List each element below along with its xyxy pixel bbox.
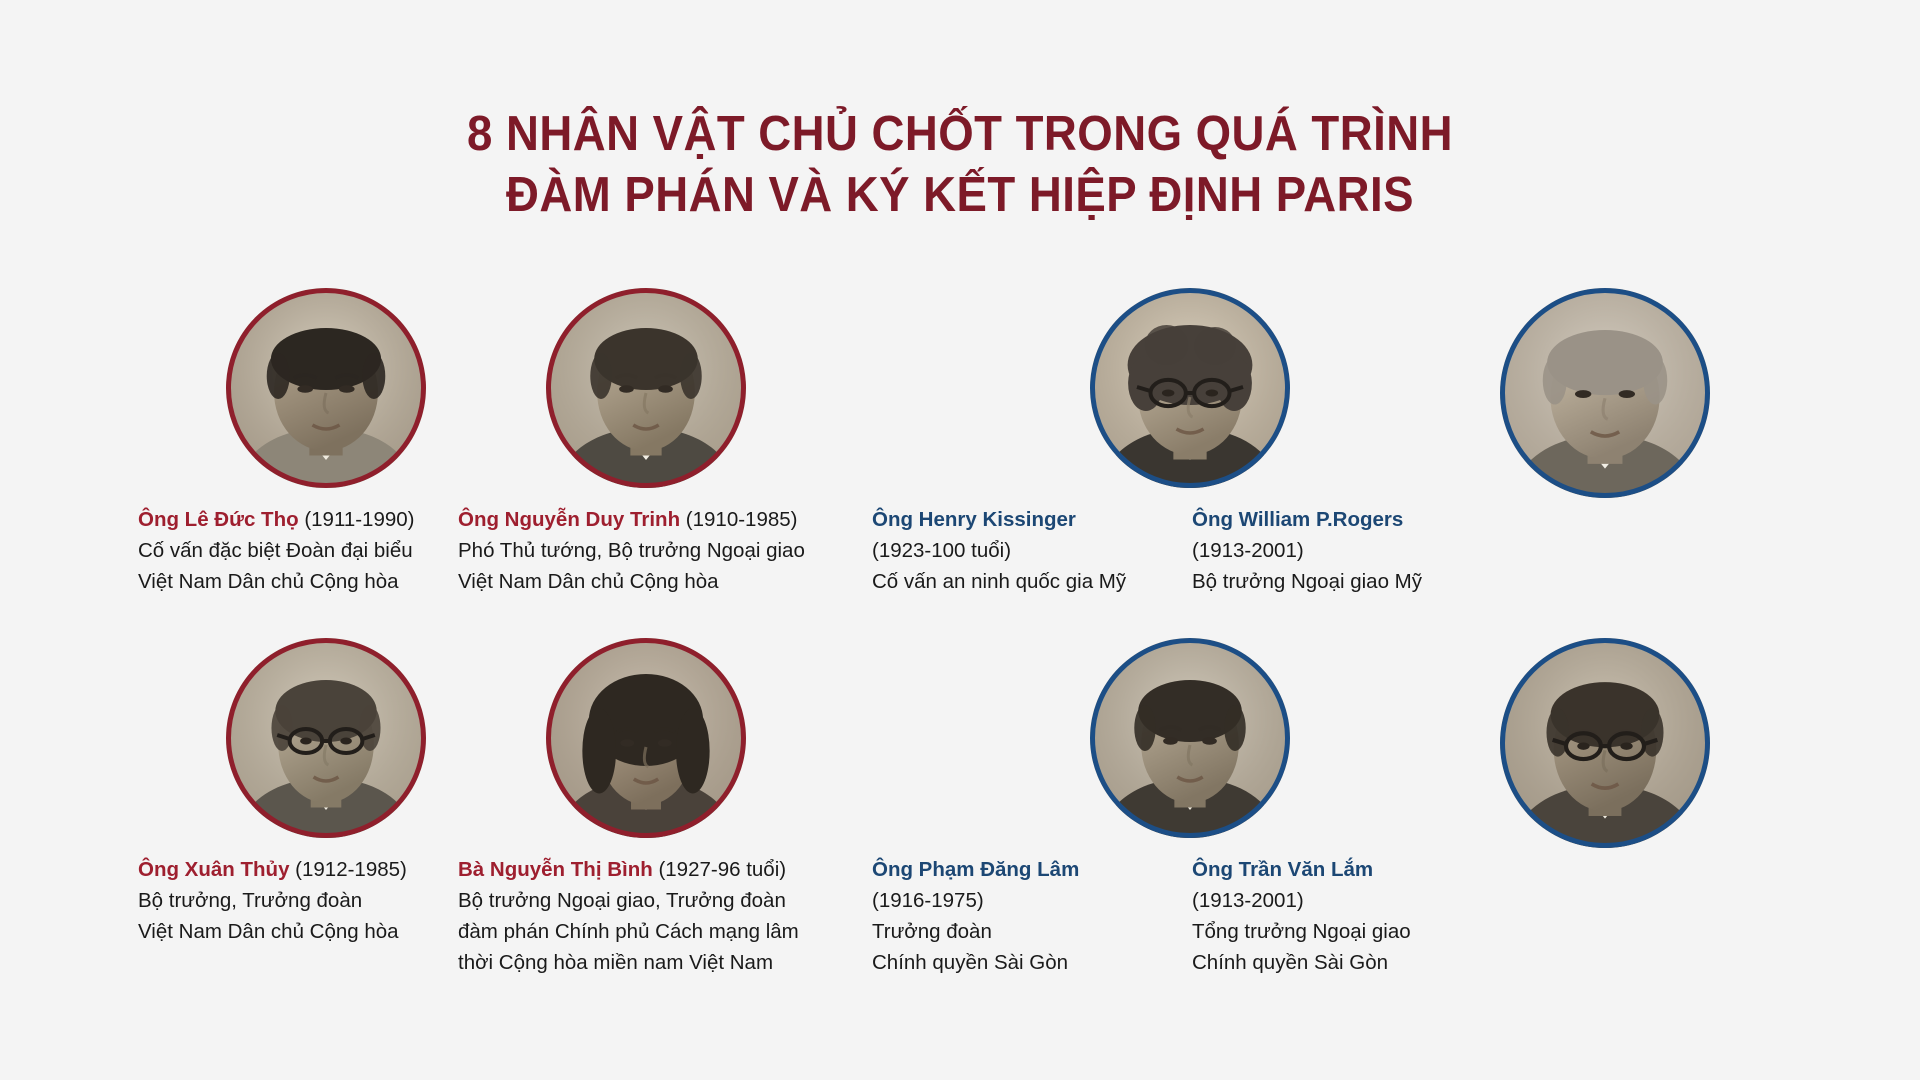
- portrait-le-duc-tho: [226, 288, 426, 488]
- person-card-nguyen-thi-binh: Bà Nguyễn Thị Bình (1927-96 tuổi)Bộ trưở…: [458, 626, 799, 978]
- person-role-line-nguyen-duy-trinh-2: Việt Nam Dân chủ Cộng hòa: [458, 566, 805, 597]
- person-years-xuan-thuy: (1912-1985): [289, 858, 406, 881]
- portrait-wrap-william-p-rogers: [1192, 288, 1710, 498]
- caption-nguyen-thi-binh: Bà Nguyễn Thị Bình (1927-96 tuổi)Bộ trưở…: [458, 854, 799, 978]
- portrait-wrap-tran-van-lam: [1192, 638, 1710, 848]
- person-role-line-le-duc-tho-1: Cố vấn đặc biệt Đoàn đại biểu: [138, 535, 426, 566]
- portrait-xuan-thuy: [226, 638, 426, 838]
- title-line-2: ĐÀM PHÁN VÀ KÝ KẾT HIỆP ĐỊNH PARIS: [67, 165, 1853, 226]
- person-name-nguyen-duy-trinh: Ông Nguyễn Duy Trinh: [458, 508, 680, 531]
- person-years-william-p-rogers: (1913-2001): [1192, 535, 1710, 566]
- person-years-tran-van-lam: (1913-2001): [1192, 885, 1710, 916]
- people-row-top: Ông Lê Đức Thọ (1911-1990)Cố vấn đặc biệ…: [0, 276, 1920, 626]
- portrait-nguyen-thi-binh: [546, 638, 746, 838]
- person-role-line-nguyen-thi-binh-1: Bộ trưởng Ngoại giao, Trưởng đoàn: [458, 885, 799, 916]
- person-role-line-william-p-rogers-1: Bộ trưởng Ngoại giao Mỹ: [1192, 566, 1710, 597]
- portrait-wrap-xuan-thuy: [138, 638, 426, 838]
- person-years-nguyen-thi-binh: (1927-96 tuổi): [653, 858, 786, 881]
- person-card-nguyen-duy-trinh: Ông Nguyễn Duy Trinh (1910-1985)Phó Thủ …: [458, 276, 805, 597]
- caption-william-p-rogers: Ông William P.Rogers(1913-2001)Bộ trưởng…: [1192, 504, 1710, 597]
- portrait-tran-van-lam: [1500, 638, 1710, 848]
- caption-le-duc-tho: Ông Lê Đức Thọ (1911-1990)Cố vấn đặc biệ…: [138, 504, 426, 597]
- caption-nguyen-duy-trinh: Ông Nguyễn Duy Trinh (1910-1985)Phó Thủ …: [458, 504, 805, 597]
- person-name-william-p-rogers: Ông William P.Rogers: [1192, 508, 1403, 531]
- name-line-xuan-thuy: Ông Xuân Thủy (1912-1985): [138, 854, 426, 885]
- name-line-nguyen-duy-trinh: Ông Nguyễn Duy Trinh (1910-1985): [458, 504, 805, 535]
- person-card-tran-van-lam: Ông Trần Văn Lắm(1913-2001)Tổng trưởng N…: [1192, 626, 1710, 978]
- person-role-line-le-duc-tho-2: Việt Nam Dân chủ Cộng hòa: [138, 566, 426, 597]
- person-card-william-p-rogers: Ông William P.Rogers(1913-2001)Bộ trưởng…: [1192, 276, 1710, 597]
- portrait-william-p-rogers: [1500, 288, 1710, 498]
- person-card-le-duc-tho: Ông Lê Đức Thọ (1911-1990)Cố vấn đặc biệ…: [138, 276, 426, 597]
- portrait-wrap-nguyen-thi-binh: [458, 638, 799, 838]
- person-role-line-nguyen-thi-binh-3: thời Cộng hòa miền nam Việt Nam: [458, 947, 799, 978]
- people-row-bottom: Ông Xuân Thủy (1912-1985)Bộ trưởng, Trưở…: [0, 626, 1920, 986]
- infographic-page: 8 NHÂN VẬT CHỦ CHỐT TRONG QUÁ TRÌNH ĐÀM …: [0, 0, 1920, 1080]
- caption-xuan-thuy: Ông Xuân Thủy (1912-1985)Bộ trưởng, Trưở…: [138, 854, 426, 947]
- name-line-le-duc-tho: Ông Lê Đức Thọ (1911-1990): [138, 504, 426, 535]
- person-years-le-duc-tho: (1911-1990): [299, 508, 415, 531]
- person-name-xuan-thuy: Ông Xuân Thủy: [138, 858, 289, 881]
- person-role-line-nguyen-duy-trinh-1: Phó Thủ tướng, Bộ trưởng Ngoại giao: [458, 535, 805, 566]
- person-role-line-xuan-thuy-1: Bộ trưởng, Trưởng đoàn: [138, 885, 426, 916]
- title-line-1: 8 NHÂN VẬT CHỦ CHỐT TRONG QUÁ TRÌNH: [67, 104, 1853, 165]
- person-name-tran-van-lam: Ông Trần Văn Lắm: [1192, 858, 1373, 881]
- person-name-henry-kissinger: Ông Henry Kissinger: [872, 508, 1076, 531]
- person-role-line-nguyen-thi-binh-2: đàm phán Chính phủ Cách mạng lâm: [458, 916, 799, 947]
- name-line-william-p-rogers: Ông William P.Rogers: [1192, 504, 1710, 535]
- portrait-nguyen-duy-trinh: [546, 288, 746, 488]
- person-years-nguyen-duy-trinh: (1910-1985): [680, 508, 797, 531]
- portrait-wrap-le-duc-tho: [138, 288, 426, 488]
- people-grid: Ông Lê Đức Thọ (1911-1990)Cố vấn đặc biệ…: [0, 276, 1920, 986]
- person-name-pham-dang-lam: Ông Phạm Đăng Lâm: [872, 858, 1079, 881]
- person-role-line-xuan-thuy-2: Việt Nam Dân chủ Cộng hòa: [138, 916, 426, 947]
- person-name-le-duc-tho: Ông Lê Đức Thọ: [138, 508, 299, 531]
- page-title: 8 NHÂN VẬT CHỦ CHỐT TRONG QUÁ TRÌNH ĐÀM …: [0, 104, 1920, 226]
- person-name-nguyen-thi-binh: Bà Nguyễn Thị Bình: [458, 858, 653, 881]
- name-line-nguyen-thi-binh: Bà Nguyễn Thị Bình (1927-96 tuổi): [458, 854, 799, 885]
- person-role-line-tran-van-lam-1: Tổng trưởng Ngoại giao: [1192, 916, 1710, 947]
- name-line-tran-van-lam: Ông Trần Văn Lắm: [1192, 854, 1710, 885]
- portrait-wrap-nguyen-duy-trinh: [458, 288, 805, 488]
- person-role-line-tran-van-lam-2: Chính quyền Sài Gòn: [1192, 947, 1710, 978]
- caption-tran-van-lam: Ông Trần Văn Lắm(1913-2001)Tổng trưởng N…: [1192, 854, 1710, 978]
- person-card-xuan-thuy: Ông Xuân Thủy (1912-1985)Bộ trưởng, Trưở…: [138, 626, 426, 947]
